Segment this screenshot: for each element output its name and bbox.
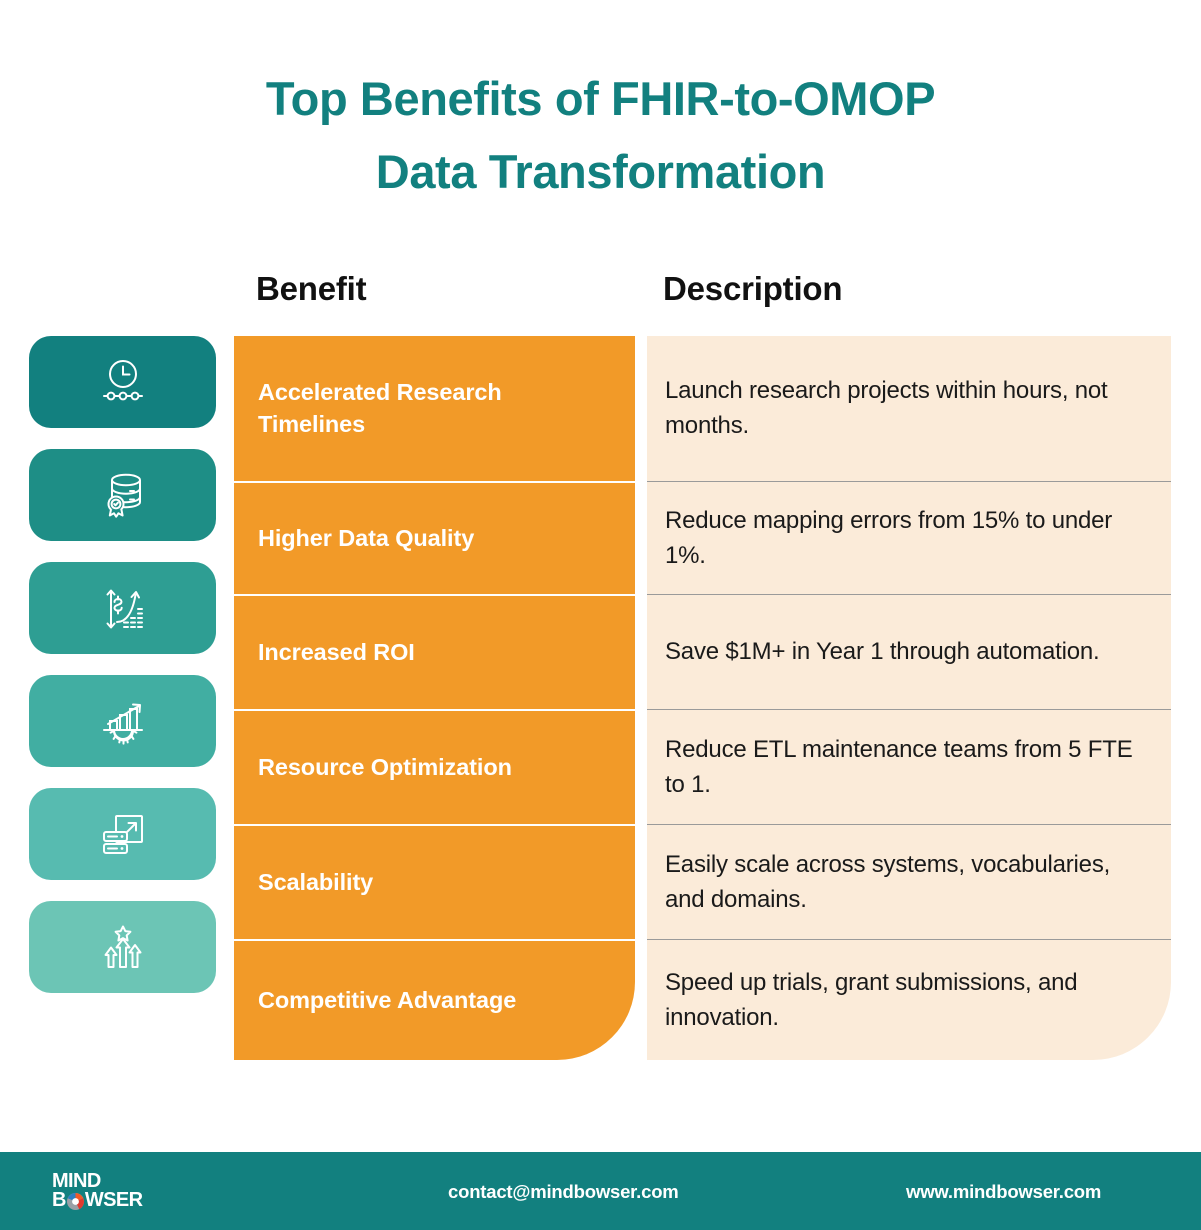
benefit-cell: Higher Data Quality: [234, 483, 635, 594]
infographic-page: Top Benefits of FHIR-to-OMOP Data Transf…: [0, 0, 1201, 1230]
description-text: Launch research projects within hours, n…: [665, 374, 1153, 442]
description-cell: Reduce mapping errors from 15% to under …: [647, 483, 1171, 594]
benefit-cell: Increased ROI: [234, 596, 635, 709]
benefit-label: Higher Data Quality: [258, 523, 474, 555]
description-cell: Speed up trials, grant submissions, and …: [647, 941, 1171, 1060]
mindbowser-logo: MIND B WSER: [52, 1172, 192, 1212]
description-cell: Save $1M+ in Year 1 through automation.: [647, 596, 1171, 709]
logo-circle-icon: [66, 1192, 85, 1211]
page-title: Top Benefits of FHIR-to-OMOP Data Transf…: [0, 62, 1201, 209]
logo-line-2: B WSER: [52, 1191, 192, 1210]
page-title-line-2: Data Transformation: [0, 135, 1201, 208]
benefit-cell: Competitive Advantage: [234, 941, 635, 1060]
description-cell: Reduce ETL maintenance teams from 5 FTE …: [647, 711, 1171, 824]
server-expand-arrow-icon: [95, 806, 151, 862]
row-divider: [647, 824, 1171, 825]
row-divider: [647, 594, 1171, 595]
description-text: Save $1M+ in Year 1 through automation.: [665, 635, 1100, 669]
icon-tile-resource-optimization: [29, 675, 216, 767]
benefit-cell: Accelerated Research Timelines: [234, 336, 635, 481]
logo-text-wser: WSER: [85, 1191, 143, 1210]
benefit-label: Competitive Advantage: [258, 985, 516, 1017]
row-divider: [647, 709, 1171, 710]
dollar-growth-chart-icon: [95, 580, 151, 636]
description-text: Easily scale across systems, vocabularie…: [665, 848, 1153, 916]
row-divider: [647, 939, 1171, 940]
description-cell: Launch research projects within hours, n…: [647, 336, 1171, 481]
benefit-column: Accelerated Research Timelines Higher Da…: [234, 336, 635, 1060]
database-award-icon: [95, 467, 151, 523]
description-column: Launch research projects within hours, n…: [647, 336, 1171, 1060]
icon-rail: [29, 336, 216, 1060]
benefit-cell: Resource Optimization: [234, 711, 635, 824]
logo-text-b: B: [52, 1191, 66, 1210]
benefit-label: Accelerated Research Timelines: [258, 377, 611, 441]
bar-chart-gear-icon: [95, 693, 151, 749]
row-divider: [647, 481, 1171, 482]
column-header-benefit: Benefit: [256, 270, 366, 308]
three-arrows-star-icon: [95, 919, 151, 975]
icon-tile-scalability: [29, 788, 216, 880]
footer-website[interactable]: www.mindbowser.com: [906, 1181, 1101, 1203]
description-text: Speed up trials, grant submissions, and …: [665, 966, 1153, 1034]
description-cell: Easily scale across systems, vocabularie…: [647, 826, 1171, 939]
benefit-label: Resource Optimization: [258, 752, 512, 784]
benefits-table: Accelerated Research Timelines Higher Da…: [0, 336, 1201, 1060]
icon-tile-competitive-advantage: [29, 901, 216, 993]
description-text: Reduce ETL maintenance teams from 5 FTE …: [665, 733, 1153, 801]
footer-email[interactable]: contact@mindbowser.com: [448, 1181, 679, 1203]
benefit-cell: Scalability: [234, 826, 635, 939]
icon-tile-accelerated-research-timelines: [29, 336, 216, 428]
benefit-label: Increased ROI: [258, 637, 415, 669]
benefit-label: Scalability: [258, 867, 373, 899]
column-header-description: Description: [663, 270, 842, 308]
page-title-line-1: Top Benefits of FHIR-to-OMOP: [0, 62, 1201, 135]
clock-timeline-icon: [95, 354, 151, 410]
icon-tile-increased-roi: [29, 562, 216, 654]
description-text: Reduce mapping errors from 15% to under …: [665, 504, 1153, 572]
icon-tile-higher-data-quality: [29, 449, 216, 541]
